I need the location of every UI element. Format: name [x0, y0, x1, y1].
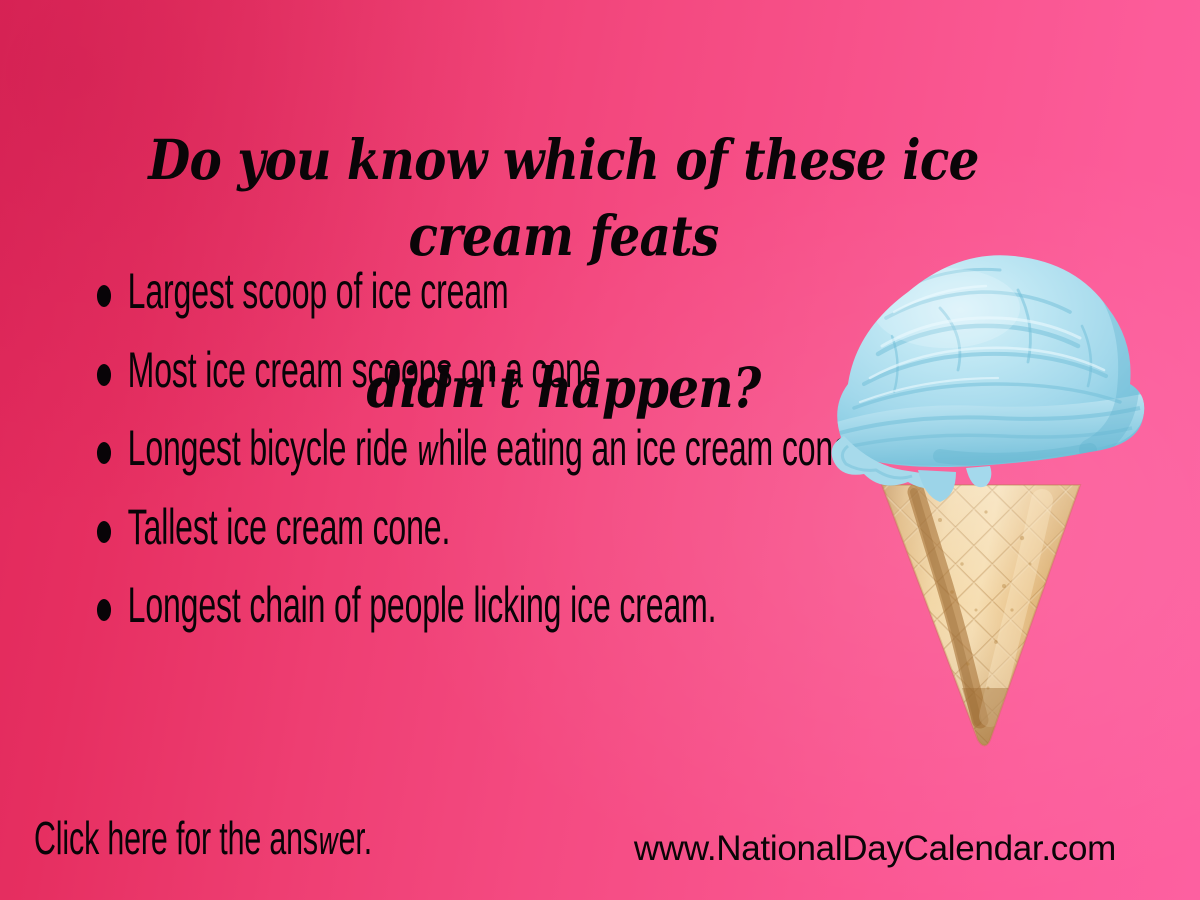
list-item-label: Most ice cream scoops on a cone [128, 342, 601, 398]
poster-canvas: Do you know which of these ice cream fea… [0, 0, 1200, 900]
list-item: Longest chain of people licking ice crea… [88, 572, 886, 639]
answer-link[interactable]: Click here for the answer. [34, 815, 372, 862]
answer-link-label: Click here for the answer. [34, 812, 372, 864]
list-item-label: Longest bicycle ride while eating an ice… [128, 420, 851, 476]
list-item-label: Longest chain of people licking ice crea… [128, 577, 717, 633]
list-item-label: Tallest ice cream cone. [128, 499, 451, 555]
list-item: Longest bicycle ride while eating an ice… [88, 415, 886, 482]
ice-cream-feats-list: Largest scoop of ice cream Most ice crea… [88, 258, 848, 651]
website-url-label: www.NationalDayCalendar.com [634, 829, 1116, 868]
waffle-cone [870, 475, 1100, 760]
website-url[interactable]: www.NationalDayCalendar.com [634, 831, 1116, 866]
list-item: Most ice cream scoops on a cone [88, 337, 886, 404]
headline-line-1: Do you know which of these ice cream fea… [91, 122, 1037, 274]
list-item: Tallest ice cream cone. [88, 494, 886, 561]
list-item: Largest scoop of ice cream [88, 258, 886, 325]
list-item-label: Largest scoop of ice cream [128, 263, 509, 319]
